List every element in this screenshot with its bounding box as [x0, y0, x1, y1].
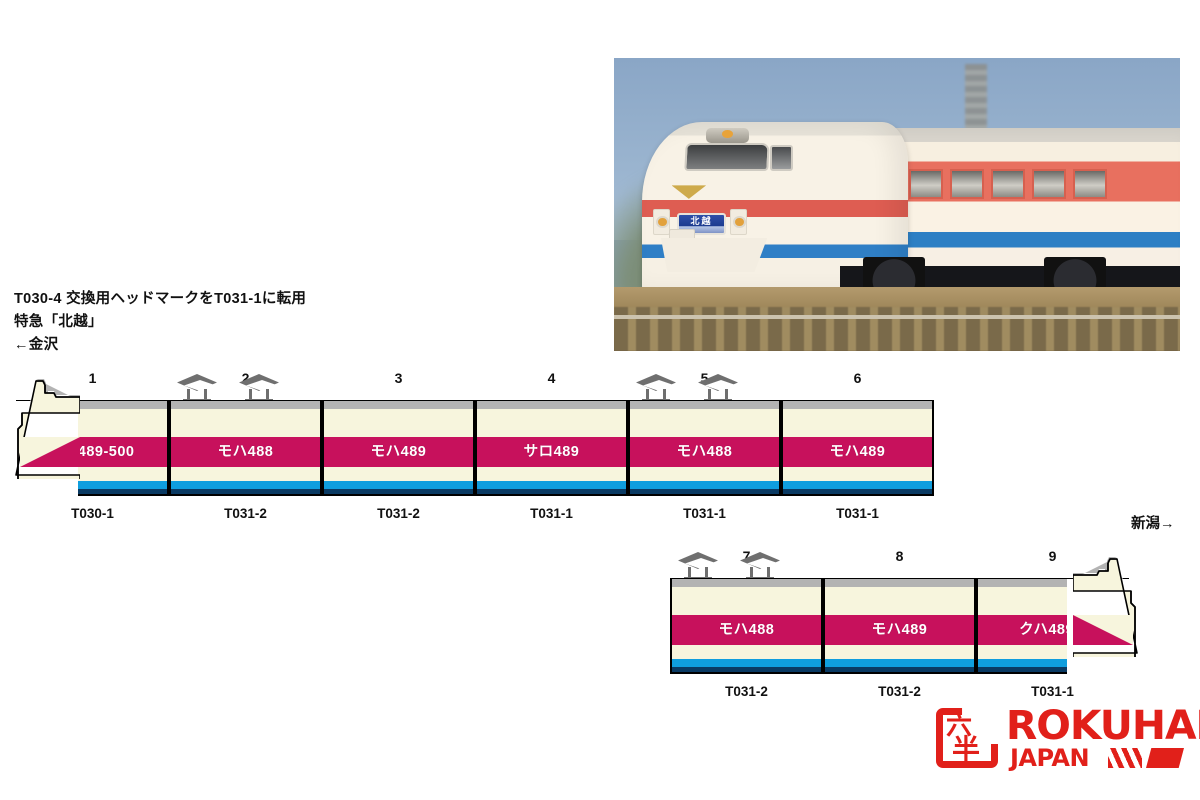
note-line-3: ←金沢 [14, 334, 574, 357]
notes-block: T030-4 交換用ヘッドマークをT031-1に転用 特急「北越」 ←金沢 [14, 288, 574, 357]
car-number: 4 [532, 370, 572, 386]
car-type-label: モハ488 [672, 615, 821, 645]
logo-slashes-icon [1108, 748, 1142, 768]
pantograph-diamond-icon [740, 552, 780, 569]
note-line-1: T030-4 交換用ヘッドマークをT031-1に転用 [14, 288, 574, 311]
car-type-label: モハ489 [825, 615, 974, 645]
product-code: T031-2 [186, 506, 306, 521]
car-number: 3 [379, 370, 419, 386]
rokuhan-logo: 六 半 ROKUHAN JAPAN [936, 706, 1184, 772]
direction-label-right: 新潟→ [1131, 512, 1175, 533]
photo-skirt [661, 238, 767, 272]
car-number: 8 [880, 548, 920, 564]
photo-rail [614, 315, 1180, 319]
pantograph-diamond-icon [636, 374, 676, 391]
pantograph-icon [177, 374, 217, 402]
photo-windshield [684, 143, 769, 171]
product-code: T031-1 [645, 506, 765, 521]
train-car: モハ489 [823, 578, 976, 674]
pantograph-icon [678, 552, 718, 580]
car-type-label: モハ489 [783, 437, 932, 467]
logo-bar-icon [1146, 748, 1184, 768]
product-code: T031-2 [840, 684, 960, 699]
train-car: クハ489-500 [16, 400, 169, 496]
logo-subtitle: JAPAN [1010, 746, 1089, 770]
photo-side-window [1032, 169, 1066, 199]
product-code: T030-1 [33, 506, 153, 521]
photo-roof-lamp [722, 130, 733, 138]
pantograph-icon [740, 552, 780, 580]
train-car: モハ488 [670, 578, 823, 674]
car-type-label: モハ488 [171, 437, 320, 467]
train-car: モハ488 [169, 400, 322, 496]
photo-side-window [991, 169, 1025, 199]
train-car: サロ489 [475, 400, 628, 496]
train-car: クハ489-0 [976, 578, 1129, 674]
photo-headmark-text: 北越 [690, 215, 712, 228]
product-code: T031-2 [687, 684, 807, 699]
note-line-2: 特急「北越」 [14, 311, 574, 334]
pantograph-icon [698, 374, 738, 402]
photo-cab-side-window [770, 145, 793, 171]
product-code: T031-1 [492, 506, 612, 521]
pantograph-icon [636, 374, 676, 402]
car-type-label: モハ488 [630, 437, 779, 467]
product-code: T031-1 [993, 684, 1113, 699]
train-car: モハ489 [781, 400, 934, 496]
cab-car-nose-right [1067, 579, 1131, 675]
car-number: 6 [838, 370, 878, 386]
car-number: 9 [1033, 548, 1073, 564]
photo-nose-chevron [672, 185, 707, 199]
pantograph-diamond-icon [177, 374, 217, 391]
rokuhan-kanji-mark-icon: 六 半 [936, 708, 998, 768]
cab-car-nose-left [14, 401, 78, 497]
pantograph-icon [239, 374, 279, 402]
photo-side-window [950, 169, 984, 199]
photo-marker-lamp [733, 216, 746, 228]
car-type-label: モハ489 [324, 437, 473, 467]
photo-marker-lamp [656, 216, 669, 228]
product-code: T031-1 [798, 506, 918, 521]
photo-side-window [909, 169, 943, 199]
photo-side-window [1073, 169, 1107, 199]
logo-kanji-bottom: 半 [952, 735, 992, 765]
pantograph-diamond-icon [698, 374, 738, 391]
train-car: モハ489 [322, 400, 475, 496]
pantograph-diamond-icon [678, 552, 718, 569]
product-code: T031-2 [339, 506, 459, 521]
photo-ballast [614, 307, 1180, 351]
model-train-front-photo: 北越 [614, 58, 1180, 351]
pantograph-diamond-icon [239, 374, 279, 391]
logo-wordmark: ROKUHAN [1006, 706, 1200, 746]
train-car: モハ488 [628, 400, 781, 496]
car-type-label: サロ489 [477, 437, 626, 467]
